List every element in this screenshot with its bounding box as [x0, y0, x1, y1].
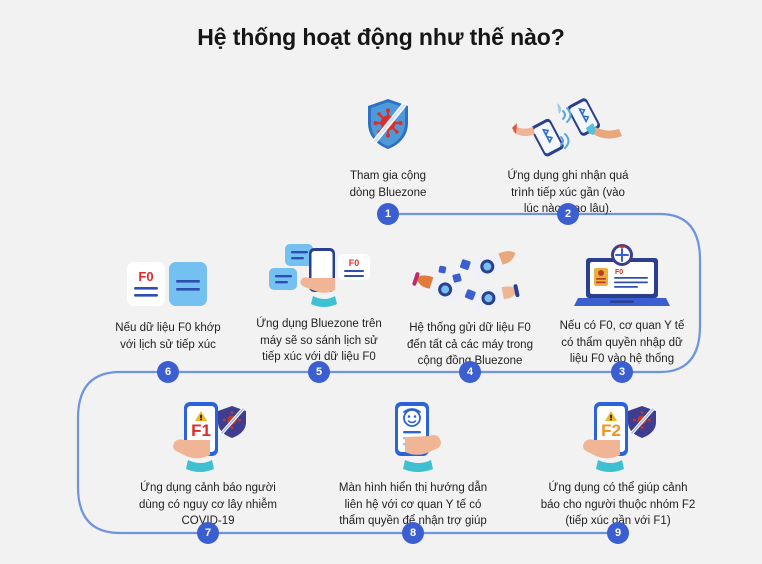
f0-label-card: F0 — [349, 258, 360, 268]
step-caption-6: Nếu dữ liệu F0 khớp với lịch sử tiếp xúc — [88, 320, 248, 353]
intro-item-1: Tham gia cộng dòng Bluezone — [308, 88, 468, 201]
phone-support-guide-icon — [333, 400, 493, 472]
step-node-5[interactable]: 5 — [308, 361, 330, 383]
step-caption-5: Ứng dụng Bluezone trên máy sẽ so sánh lị… — [239, 316, 399, 366]
f2-label: F2 — [601, 421, 621, 440]
intro-caption: Tham gia cộng dòng Bluezone — [308, 168, 468, 201]
hand-phone-compare-icon: F0 — [239, 236, 399, 308]
f1-label: F1 — [191, 421, 211, 440]
step-node-6[interactable]: 6 — [157, 361, 179, 383]
step-item-8: Màn hình hiển thị hướng dẫn liên hệ với … — [333, 400, 493, 530]
step-item-5: F0 Ứng dụng Bluezone trên máy sẽ so sánh… — [239, 236, 399, 366]
f0-label-record: F0 — [615, 269, 623, 276]
step-item-6: F0 Nếu dữ liệu F0 khớp với lịch sử tiếp … — [88, 240, 248, 353]
step-item-7: F1 Ứng dụng cảnh báo người dùng có nguy … — [128, 400, 288, 530]
step-node-7[interactable]: 7 — [197, 522, 219, 544]
shield-virus-icon — [308, 88, 468, 160]
two-cards-f0-match-icon: F0 — [88, 240, 248, 312]
step-node-3[interactable]: 3 — [611, 361, 633, 383]
two-phones-bluetooth-icon — [488, 88, 648, 160]
step-node-4[interactable]: 4 — [459, 361, 481, 383]
hands-phones-broadcast-icon — [390, 240, 550, 312]
phone-f1-alert-icon: F1 — [128, 400, 288, 472]
phone-f2-alert-icon: F2 — [538, 400, 698, 472]
step-node-1[interactable]: 1 — [377, 203, 399, 225]
step-node-8[interactable]: 8 — [402, 522, 424, 544]
page-title: Hệ thống hoạt động như thế nào? — [0, 24, 762, 51]
laptop-health-record-icon: F0 — [542, 238, 702, 310]
step-node-9[interactable]: 9 — [607, 522, 629, 544]
step-item-3: F0 Nếu có F0, cơ quan Y tế có thẩm quyền… — [542, 238, 702, 368]
infographic-root: Hệ thống hoạt động như thế nào? — [0, 0, 762, 564]
f0-label-card: F0 — [138, 269, 153, 284]
step-node-2[interactable]: 2 — [557, 203, 579, 225]
step-item-4: Hệ thống gửi dữ liệu F0 đến tất cả các m… — [390, 240, 550, 370]
step-item-9: F2 Ứng dụng có thể giúp cảnh báo cho ngư… — [538, 400, 698, 530]
intro-item-2: Ứng dụng ghi nhận quá trình tiếp xúc gần… — [488, 88, 648, 218]
